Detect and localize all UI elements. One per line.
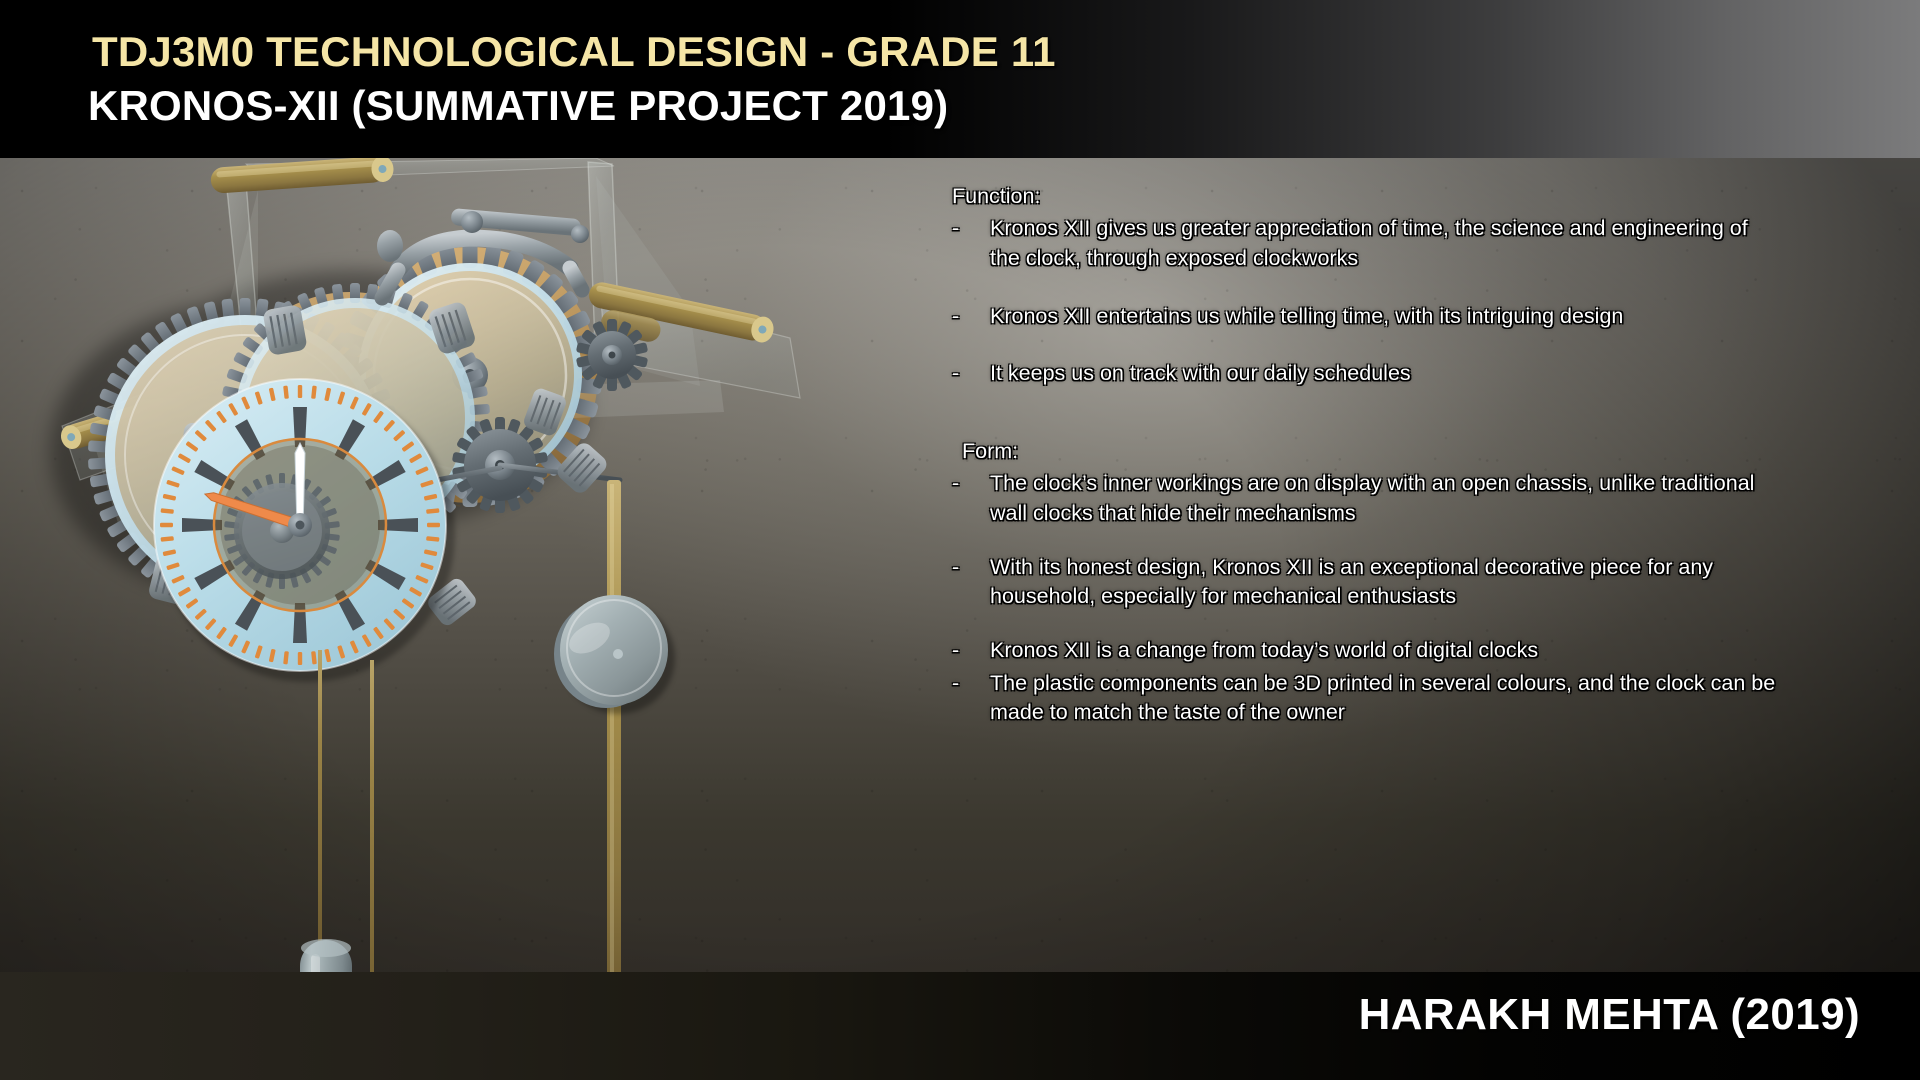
function-bullet-1-cont: the clock, through exposed clockworks [952, 244, 1882, 274]
bullet-marker: - [952, 302, 990, 332]
bullet-text: Kronos XII entertains us while telling t… [990, 302, 1882, 332]
bullet-text: wall clocks that hide their mechanisms [990, 499, 1882, 529]
bullet-indent-spacer [952, 499, 990, 529]
course-title: TDJ3M0 TECHNOLOGICAL DESIGN - GRADE 11 [92, 28, 1056, 76]
bullet-text: the clock, through exposed clockworks [990, 244, 1882, 274]
bullet-text: household, especially for mechanical ent… [990, 582, 1882, 612]
spacer [952, 331, 1882, 359]
function-heading: Function: [952, 182, 1882, 210]
bullet-indent-spacer [952, 582, 990, 612]
spacer [952, 274, 1882, 302]
project-title: KRONOS-XII (SUMMATIVE PROJECT 2019) [88, 82, 948, 130]
form-bullet-4: - The plastic components can be 3D print… [952, 669, 1882, 699]
bullet-marker: - [952, 669, 990, 699]
function-bullet-1: - Kronos XII gives us greater appreciati… [952, 214, 1882, 244]
author-credit: HARAKH MEHTA (2019) [1359, 990, 1860, 1040]
bullet-marker: - [952, 359, 990, 389]
form-heading: Form: [952, 437, 1882, 465]
bullet-text: It keeps us on track with our daily sche… [990, 359, 1882, 389]
content-text-column: Function: - Kronos XII gives us greater … [952, 182, 1882, 728]
function-bullet-3: - It keeps us on track with our daily sc… [952, 359, 1882, 389]
bullet-text: Kronos XII is a change from today’s worl… [990, 636, 1882, 666]
bullet-marker: - [952, 636, 990, 666]
section-spacer [952, 389, 1882, 437]
bullet-text: made to match the taste of the owner [990, 698, 1882, 728]
bullet-marker: - [952, 553, 990, 583]
spacer [952, 529, 1882, 553]
bullet-text: With its honest design, Kronos XII is an… [990, 553, 1882, 583]
bullet-marker: - [952, 469, 990, 499]
bullet-text: Kronos XII gives us greater appreciation… [990, 214, 1882, 244]
slide-header-bar: TDJ3M0 TECHNOLOGICAL DESIGN - GRADE 11 K… [0, 0, 1920, 158]
bullet-marker: - [952, 214, 990, 244]
form-bullet-2: - With its honest design, Kronos XII is … [952, 553, 1882, 583]
bullet-indent-spacer [952, 698, 990, 728]
spacer [952, 612, 1882, 636]
form-bullet-4-cont: made to match the taste of the owner [952, 698, 1882, 728]
bullet-indent-spacer [952, 244, 990, 274]
form-bullet-3: - Kronos XII is a change from today’s wo… [952, 636, 1882, 666]
bullet-text: The plastic components can be 3D printed… [990, 669, 1882, 699]
presentation-slide: Function: - Kronos XII gives us greater … [0, 0, 1920, 1080]
form-bullet-1-cont: wall clocks that hide their mechanisms [952, 499, 1882, 529]
bullet-text: The clock’s inner workings are on displa… [990, 469, 1882, 499]
function-bullet-2: - Kronos XII entertains us while telling… [952, 302, 1882, 332]
form-bullet-2-cont: household, especially for mechanical ent… [952, 582, 1882, 612]
form-bullet-1: - The clock’s inner workings are on disp… [952, 469, 1882, 499]
